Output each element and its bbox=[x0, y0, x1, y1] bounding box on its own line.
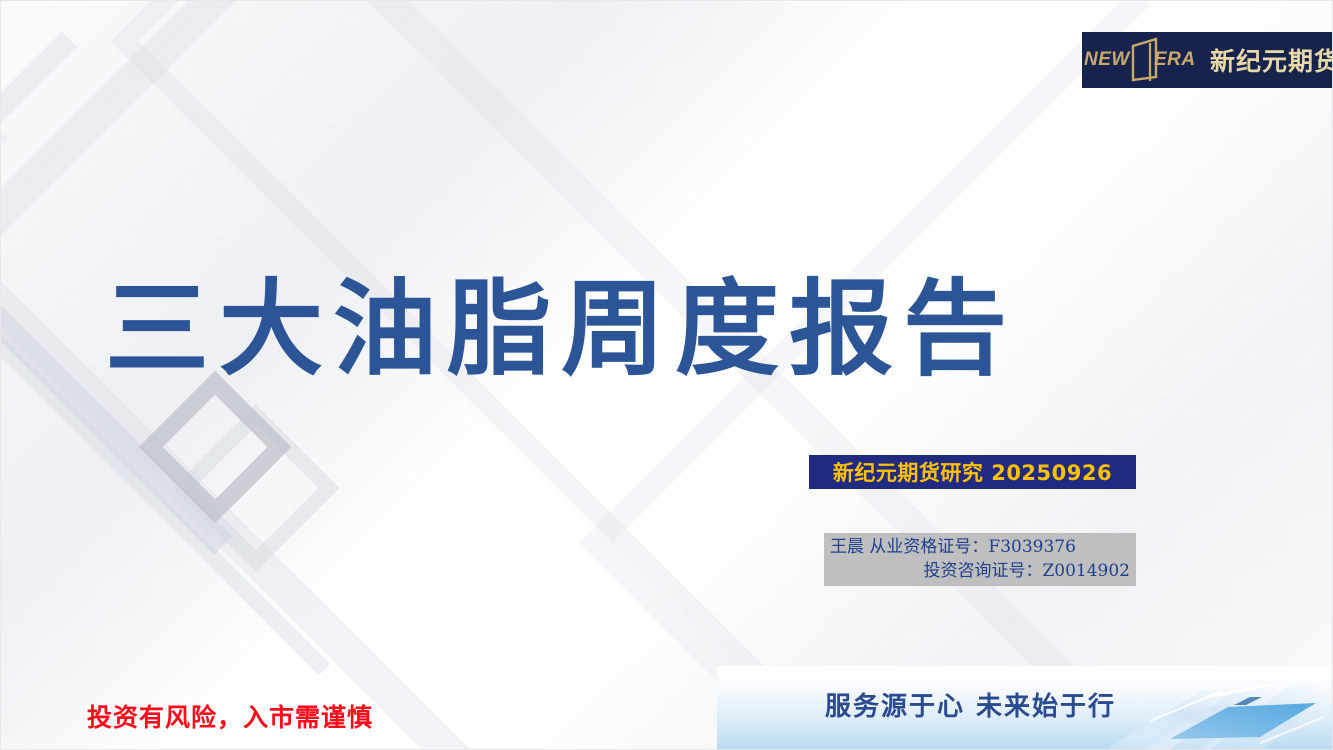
background-diamond-shadow bbox=[173, 405, 340, 572]
logo-mark: NEW ERA bbox=[1082, 32, 1208, 88]
risk-warning-text: 投资有风险，入市需谨慎 bbox=[87, 698, 373, 734]
background-chevron bbox=[1, 31, 573, 749]
footer-band: 服务源于心 未来始于行 bbox=[717, 666, 1333, 749]
credentials-consulting-line: 投资咨询证号：Z0014902 bbox=[830, 559, 1130, 583]
logo-text-chinese: 新纪元期货 bbox=[1210, 42, 1333, 78]
research-date-badge: 新纪元期货研究 20250926 bbox=[809, 455, 1136, 489]
background-chevron bbox=[1, 128, 588, 749]
logo-text-era: ERA bbox=[1154, 49, 1196, 71]
company-logo: NEW ERA 新纪元期货 bbox=[1082, 32, 1333, 88]
presentation-slide: NEW ERA 新纪元期货 三大油脂周度报告 新纪元期货研究 20250926 … bbox=[0, 0, 1333, 750]
research-date-label: 新纪元期货研究 20250926 bbox=[833, 457, 1112, 487]
company-slogan: 服务源于心 未来始于行 bbox=[825, 686, 1116, 723]
analyst-credentials: 王晨 从业资格证号：F3039376 投资咨询证号：Z0014902 bbox=[824, 533, 1136, 586]
page-title: 三大油脂周度报告 bbox=[1, 273, 1121, 385]
credentials-practice-line: 王晨 从业资格证号：F3039376 bbox=[830, 535, 1130, 559]
logo-text-new: NEW bbox=[1084, 49, 1130, 71]
high-speed-train-icon bbox=[1110, 677, 1333, 749]
background-diamond-icon bbox=[139, 371, 292, 524]
